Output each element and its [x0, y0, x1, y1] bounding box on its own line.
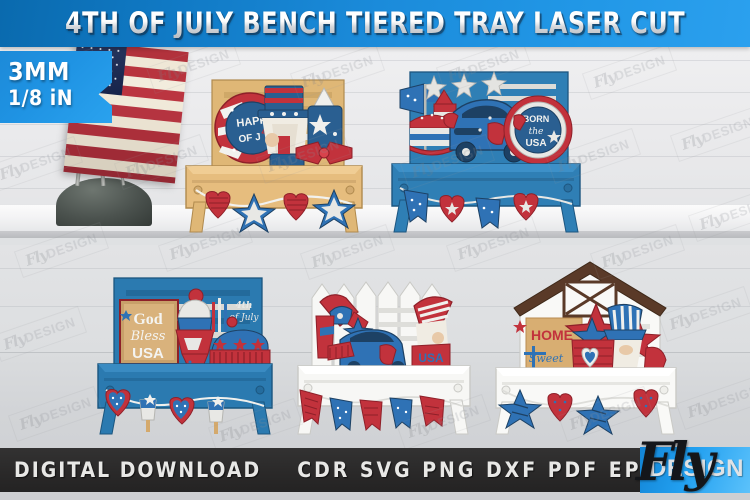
god-bless-usa-sign: God Bless USA: [120, 300, 178, 364]
page-title: 4TH OF JULY BENCH TIERED TRAY LASER CUT: [65, 9, 685, 38]
banner-shape-dotted-heart: [170, 398, 194, 425]
banner-shape-heart: [548, 394, 572, 422]
banner-shape-striped-heart: [284, 194, 308, 221]
svg-text:God: God: [133, 311, 162, 328]
svg-text:USA: USA: [418, 351, 444, 365]
product-bench-3-blue-god-bless-usa: God Bless USA 4th of July: [92, 268, 282, 436]
thickness-badge: 3MM 1/8 iN: [0, 51, 112, 123]
svg-text:USA: USA: [132, 345, 164, 362]
svg-text:4th: 4th: [236, 301, 253, 311]
banner-shape-pennant: [420, 396, 444, 426]
product-bench-4-white-fence-gnome-truck: USA: [292, 272, 482, 436]
banner-shape-striped-heart: [206, 192, 230, 219]
svg-text:the: the: [529, 127, 544, 137]
title-banner: 4TH OF JULY BENCH TIERED TRAY LASER CUT: [0, 0, 750, 47]
digital-download-label: DIGITAL DOWNLOAD: [14, 458, 261, 482]
banner-shape-pennant: [300, 390, 322, 424]
file-formats-label: CDR SVG PNG DXF PDF EPS: [297, 458, 658, 482]
svg-text:USA: USA: [525, 138, 546, 149]
svg-text:Bless: Bless: [130, 329, 166, 344]
banner-shape-star-heart: [514, 194, 538, 221]
banner-shape-star-heart: [440, 196, 464, 223]
round-born-in-the-usa-sign: BORN the USA: [504, 96, 572, 164]
product-bench-1-wood-gnome-happy-4th: HAPP OF J 4th: [172, 62, 377, 234]
banner-shape-pennant: [390, 398, 412, 428]
svg-text:BORN: BORN: [523, 114, 550, 124]
product-bench-5-white-barn-home: HOME Sweet: [486, 256, 686, 436]
banner-shape-popsicle: [140, 394, 156, 432]
banner-shape-popsicle: [208, 396, 224, 434]
product-bench-2-blue-truck-born-in-usa: BORN the USA: [388, 58, 588, 234]
thickness-badge-mm: 3MM: [8, 57, 112, 86]
striped-hat-gnome-usa: USA: [412, 297, 452, 368]
product-listing-image: HAPP OF J 4th: [0, 0, 750, 500]
fly-design-logo: DESIGN Fly: [640, 447, 750, 493]
svg-text:HOME: HOME: [531, 327, 573, 343]
logo-fly-script: Fly: [636, 437, 711, 489]
banner-shape-pennant: [476, 198, 500, 228]
thickness-badge-inch: 1/8 iN: [8, 86, 112, 111]
banner-shape-heart: [634, 390, 658, 418]
banner-shape-pennant: [330, 398, 352, 430]
banner-shape-pennant: [360, 400, 382, 430]
